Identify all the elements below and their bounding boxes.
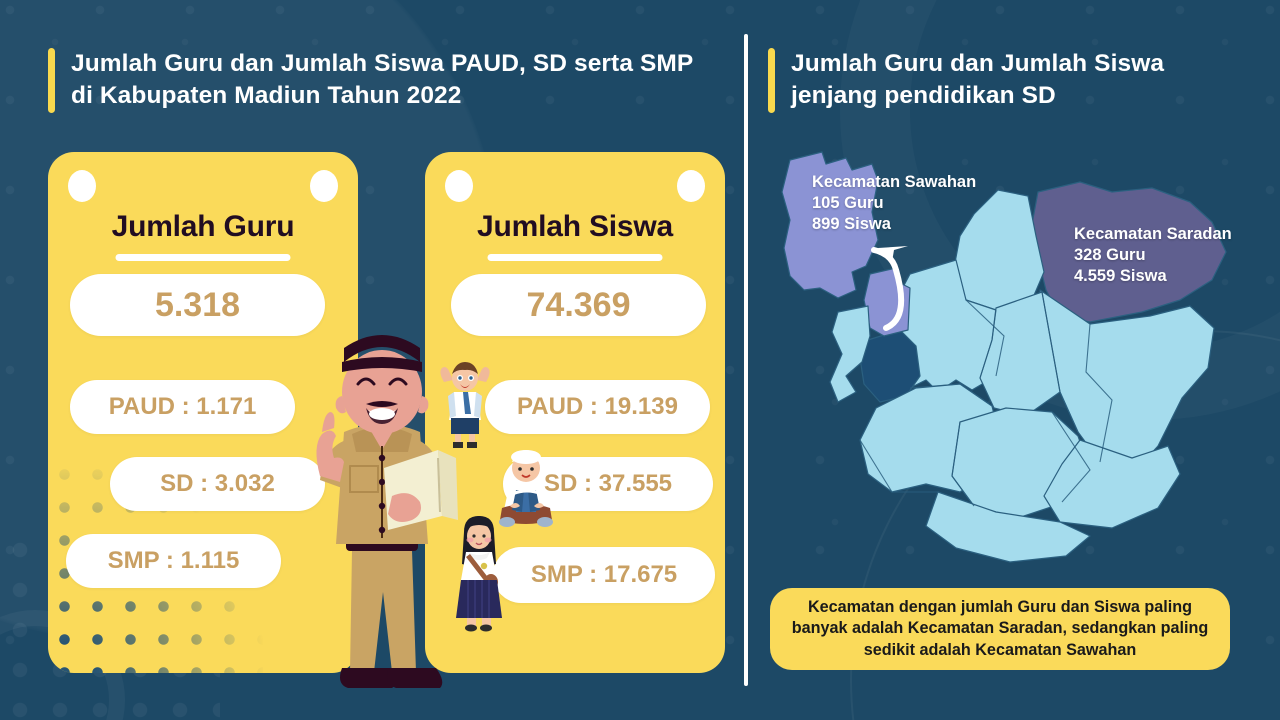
stat-card-siswa: Jumlah Siswa 74.369 PAUD : 19.139 SD : 3… [425, 152, 725, 673]
guru-paud-value: PAUD : 1.171 [70, 380, 295, 434]
right-panel-header: Jumlah Guru dan Jumlah Siswa jenjang pen… [768, 48, 1238, 113]
map-label-sawahan-guru: 105 Guru [812, 193, 976, 214]
accent-bar-right [768, 48, 775, 113]
map-region-west-strip [830, 306, 870, 402]
map-label-saradan-name: Kecamatan Saradan [1074, 224, 1232, 245]
siswa-paud-value: PAUD : 19.139 [485, 380, 710, 434]
left-panel-title: Jumlah Guru dan Jumlah Siswa PAUD, SD se… [71, 48, 708, 113]
card-guru-underline [116, 254, 291, 261]
card-siswa-title: Jumlah Siswa [425, 210, 725, 244]
footnote-text: Kecamatan dengan jumlah Guru dan Siswa p… [788, 597, 1212, 662]
card-siswa-underline [488, 254, 663, 261]
map-label-saradan: Kecamatan Saradan 328 Guru 4.559 Siswa [1074, 224, 1232, 287]
stat-card-guru: Jumlah Guru 5.318 PAUD : 1.171 SD : 3.03… [48, 152, 358, 673]
punch-hole-left-icon [68, 170, 96, 202]
map-label-sawahan-siswa: 899 Siswa [812, 214, 976, 235]
siswa-total-value: 74.369 [451, 274, 706, 336]
siswa-sd-value: SD : 37.555 [503, 457, 713, 511]
right-panel-title: Jumlah Guru dan Jumlah Siswa jenjang pen… [791, 48, 1238, 113]
map-label-saradan-guru: 328 Guru [1074, 245, 1232, 266]
guru-smp-value: SMP : 1.115 [66, 534, 281, 588]
card-guru-title: Jumlah Guru [48, 210, 358, 244]
accent-bar-left [48, 48, 55, 113]
map-label-saradan-siswa: 4.559 Siswa [1074, 266, 1232, 287]
vertical-divider [744, 34, 748, 686]
punch-hole-right-icon [310, 170, 338, 202]
siswa-smp-value: SMP : 17.675 [493, 547, 715, 603]
left-panel-header: Jumlah Guru dan Jumlah Siswa PAUD, SD se… [48, 48, 708, 113]
punch-hole-right-icon [677, 170, 705, 202]
guru-sd-value: SD : 3.032 [110, 457, 325, 511]
punch-hole-left-icon [445, 170, 473, 202]
map-label-sawahan-name: Kecamatan Sawahan [812, 172, 976, 193]
map-label-sawahan: Kecamatan Sawahan 105 Guru 899 Siswa [812, 172, 976, 235]
guru-total-value: 5.318 [70, 274, 325, 336]
footnote-box: Kecamatan dengan jumlah Guru dan Siswa p… [770, 588, 1230, 670]
